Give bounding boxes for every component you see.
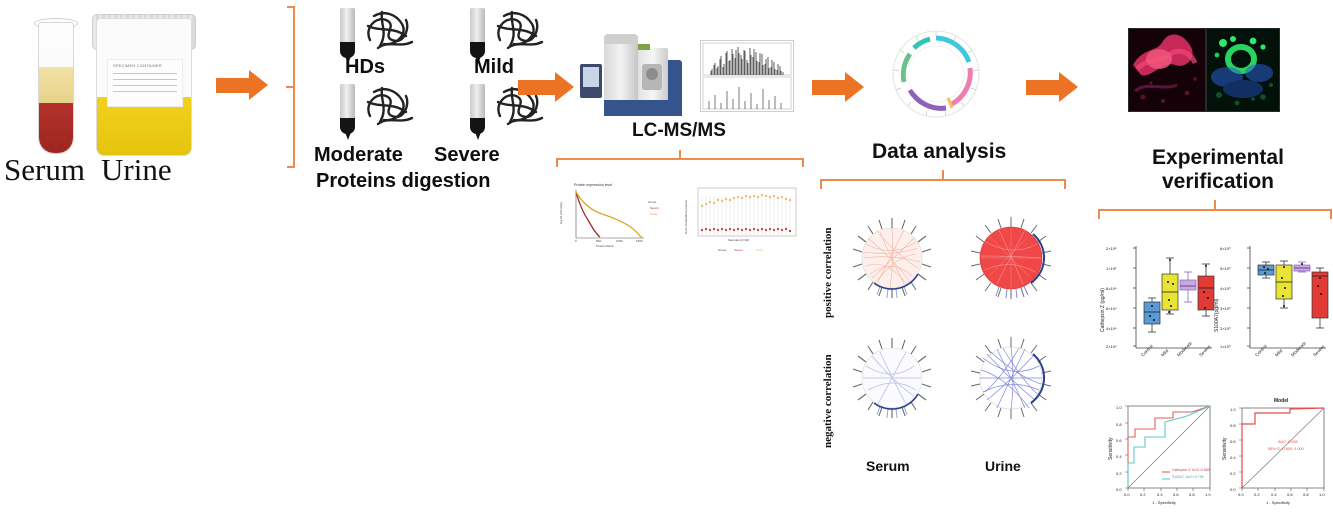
mass-spectrum-icon [700,40,794,112]
sample-vial-severe [470,84,485,140]
urine-specimen-container-icon: SPECIMEN CONTAINER [96,18,192,156]
data-analysis-bracket [820,170,1066,188]
y-tick: 1×10⁵ [1106,266,1117,271]
y-tick: 0.8 [1116,422,1122,427]
y-tick: 0.2 [1116,471,1122,476]
specimen-label-title: SPECIMEN CONTAINER [108,60,182,68]
lcms-label: LC-MS/MS [632,120,726,142]
y-tick: 3×10⁰ [1220,306,1231,311]
blood-cell-layer [39,103,73,153]
y-tick: 0.0 [1116,487,1122,492]
label-line [113,73,177,74]
group-label-mild: Mild [474,56,514,79]
label-line [113,85,177,86]
circular-genome-plot-icon [890,28,982,120]
roc-model-auc: AUC: 0.935 [1278,440,1298,444]
verification-label-line2: verification [1118,170,1318,194]
x-tick: 0.0 [1124,492,1130,497]
cathepsin-z-boxplot: 2×10⁵ 1×10⁵ 8×10⁴ 6×10⁴ 4×10⁴ 2×10⁴ Cath… [1104,236,1220,384]
urine-label: Urine [101,152,172,188]
x-tick: 0.6 [1173,492,1179,497]
protein-tangle-icon [362,82,418,132]
group-label-severe: Severe [434,144,500,167]
y-tick: 4×10⁰ [1220,286,1231,291]
roc-single-markers: Cathepsin Z, AUC=0.883 S100A7, AUC=0.738… [1104,392,1220,512]
roc-legend-s100a7: S100A7, AUC=0.738 [1172,475,1203,479]
row-label-positive-correlation: positive correlation [822,227,834,318]
y-axis-label: Sensitivity [1222,437,1228,460]
serum-label: Serum [4,152,85,188]
x-tick: 1.0 [1319,492,1325,497]
circos-negative-urine [963,330,1059,426]
blood-collection-tube-icon [38,22,74,154]
y-tick: 4×10⁴ [1106,326,1117,331]
serum-layer [39,67,73,103]
x-tick: 0.0 [1238,492,1244,497]
roc-model-ci: 95% CI: 0.800~1.000 [1268,447,1304,451]
x-tick: 0.4 [1271,492,1277,497]
immunofluorescence-green [1206,28,1280,112]
y-tick: 0.8 [1230,423,1236,428]
protein-tangle-icon [362,6,418,56]
circos-negative-serum [846,332,938,424]
mass-spectrometer-icon [580,34,690,116]
y-axis-label: Cathepsin Z (pg/ml) [1100,288,1106,332]
data-analysis-label: Data analysis [872,140,1002,164]
y-tick: 8×10⁴ [1106,286,1117,291]
x-tick: 1.0 [1205,492,1211,497]
y-tick: 2×10⁰ [1220,326,1231,331]
y-tick: 0.6 [1230,439,1236,444]
x-tick: 0.8 [1189,492,1195,497]
s100a7-boxplot: 6×10⁰ 5×10⁰ 4×10⁰ 3×10⁰ 2×10⁰ 1×10⁰ S100… [1216,236,1332,384]
y-tick: 2×10⁴ [1106,344,1117,349]
group-label-moderate: Moderate [314,144,403,167]
flow-arrow-2 [518,72,576,102]
x-tick: 0.6 [1287,492,1293,497]
x-tick: 0.4 [1157,492,1163,497]
y-tick: 0.4 [1116,454,1122,459]
y-tick: 5×10⁰ [1220,266,1231,271]
label-line [113,79,177,80]
roc-legend-cathepsin: Cathepsin Z, AUC=0.883 [1172,468,1210,472]
column-label-serum: Serum [866,458,910,474]
y-tick: 0.0 [1230,487,1236,492]
identified-proteins-plot: Num of identified proteins Samples (n=40… [676,182,808,260]
group-label-hds: HDs [345,56,385,79]
digestion-bracket [286,6,300,168]
y-tick: 0.2 [1230,471,1236,476]
x-tick: 0.2 [1140,492,1146,497]
row-label-negative-correlation: negative correlation [822,354,834,448]
specimen-cup-label: SPECIMEN CONTAINER [107,59,183,107]
y-tick: 1.0 [1116,405,1122,410]
circos-positive-serum [846,212,938,304]
roc-model-title: Model [1274,398,1288,404]
y-tick: 0.6 [1116,438,1122,443]
x-axis-label: 1 - Specificity [1152,500,1176,505]
verification-bracket [1098,200,1332,218]
flow-arrow-4 [1026,72,1078,102]
proteins-digestion-label: Proteins digestion [316,170,490,193]
x-axis-label: 1 - Specificity [1266,500,1290,505]
protein-rank-plot: Protein expression level 0 500 1000 1500… [556,182,664,254]
flow-arrow-3 [812,72,864,102]
verification-label-line1: Experimental [1118,146,1318,170]
circos-positive-urine [963,210,1059,306]
y-tick: 2×10⁵ [1106,246,1117,251]
y-axis-label: Sensitivity [1108,437,1114,460]
y-axis-label: S100A7(pg/ml) [1214,299,1220,332]
x-tick: 0.2 [1254,492,1260,497]
immunofluorescence-red [1128,28,1206,112]
roc-model: Model AUC: 0.935 95% CI: 0.800~1.000 0.0… [1216,392,1332,512]
x-tick: 0.8 [1303,492,1309,497]
y-tick: 6×10⁰ [1220,246,1231,251]
y-tick: 1.0 [1230,407,1236,412]
sample-vial-moderate [340,84,355,140]
label-line [113,91,177,92]
y-tick: 1×10⁰ [1220,344,1231,349]
column-label-urine: Urine [985,458,1021,474]
protein-tangle-icon [492,6,548,56]
lcms-bracket [556,150,804,166]
y-tick: 0.4 [1230,455,1236,460]
flow-arrow-1 [216,70,268,100]
y-tick: 6×10⁴ [1106,306,1117,311]
